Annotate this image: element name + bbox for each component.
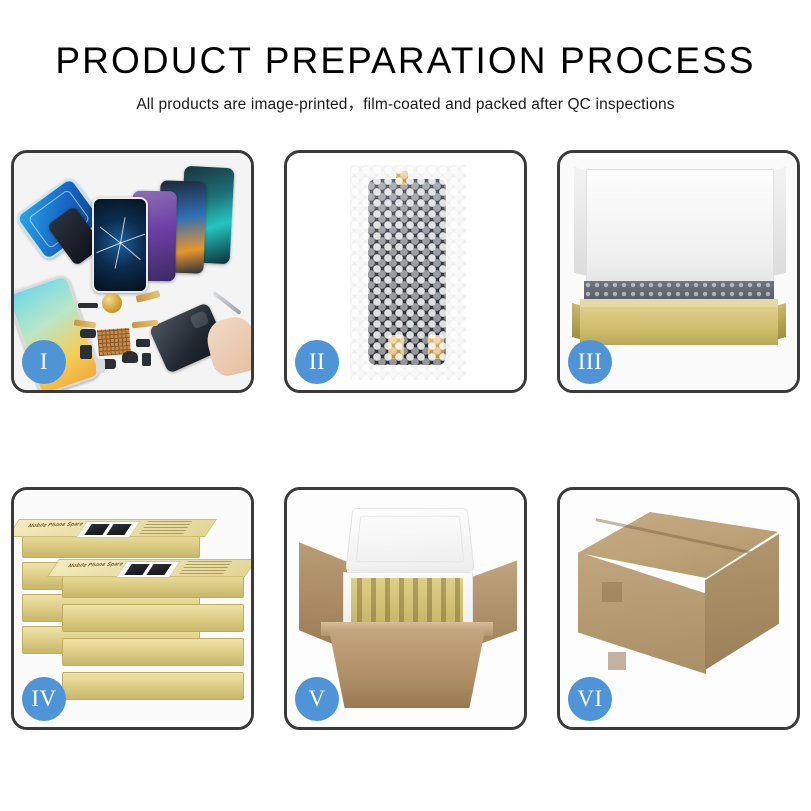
small-part xyxy=(142,353,151,366)
bubble-layer xyxy=(350,165,466,380)
gold-boxes-inside xyxy=(351,578,463,628)
step-badge-1: I xyxy=(22,340,66,384)
small-part xyxy=(80,345,92,359)
cracked-screen-phone xyxy=(92,197,148,293)
small-part xyxy=(80,329,96,338)
foam-box-lid xyxy=(345,508,474,571)
gold-box-product-image xyxy=(115,561,180,578)
process-step-6: VI xyxy=(557,487,800,730)
process-step-5: V xyxy=(284,487,527,730)
box-lid xyxy=(586,169,774,293)
small-part xyxy=(96,359,105,373)
gold-box xyxy=(62,672,244,700)
step-badge-5: V xyxy=(295,677,339,721)
box-tray-front xyxy=(580,307,778,345)
gold-box: Mobile Phone Spare Parts xyxy=(22,530,200,558)
step-badge-2: II xyxy=(295,340,339,384)
small-part xyxy=(122,351,138,363)
process-steps-grid: I II xyxy=(11,150,800,730)
product-preparation-page: PRODUCT PREPARATION PROCESS All products… xyxy=(0,0,811,811)
gold-round-part xyxy=(102,293,122,313)
small-part xyxy=(136,339,150,347)
step-badge-6: VI xyxy=(568,677,612,721)
gold-box xyxy=(62,604,244,632)
tweezers-icon xyxy=(212,291,241,315)
carton-tape-mark xyxy=(608,652,626,670)
carton-body xyxy=(329,630,485,708)
small-part xyxy=(78,303,98,308)
process-step-1: I xyxy=(11,150,254,393)
page-header: PRODUCT PREPARATION PROCESS All products… xyxy=(0,42,811,114)
carton-tape-mark xyxy=(602,582,622,602)
bubble-wrapped-package xyxy=(350,165,466,380)
page-title: PRODUCT PREPARATION PROCESS xyxy=(0,42,811,79)
step-badge-3: III xyxy=(568,340,612,384)
process-step-4: Mobile Phone Spare Parts Mobile Phone Sp… xyxy=(11,487,254,730)
process-step-2: II xyxy=(284,150,527,393)
step-badge-4: IV xyxy=(22,677,66,721)
page-subtitle: All products are image-printed，film-coat… xyxy=(0,92,811,114)
gold-box-product-image xyxy=(75,521,140,538)
process-step-3: III xyxy=(557,150,800,393)
gold-box xyxy=(62,638,244,666)
gold-box: Mobile Phone Spare Parts xyxy=(62,570,244,598)
